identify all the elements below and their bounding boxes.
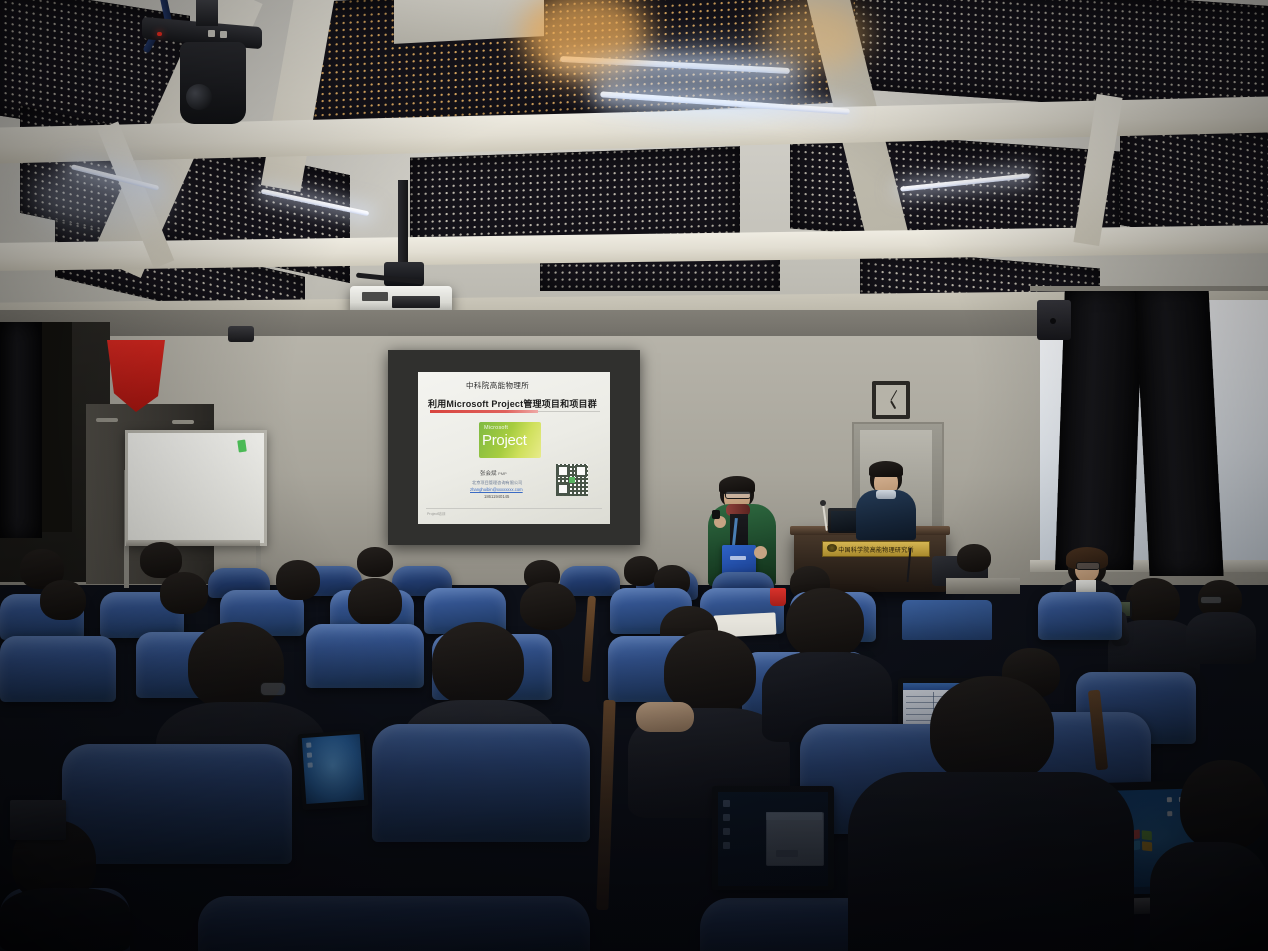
camera-port-1	[208, 30, 215, 37]
slide-title-suffix: 管理项目和项目群	[523, 399, 597, 409]
presenter-folder-logo	[730, 556, 746, 560]
slide-title-prefix: 利用	[428, 399, 446, 409]
camera-port-2	[220, 31, 227, 38]
presenter-glasses	[725, 491, 751, 499]
win7-desktop-icon-17[interactable]	[1167, 811, 1172, 816]
front-table-right	[946, 578, 1020, 594]
presenter-hand-right	[754, 546, 767, 559]
projection-screen: 中科院高能物理所 利用Microsoft Project管理项目和项目群 Mic…	[418, 372, 610, 524]
clock-hour-hand	[890, 400, 896, 409]
laptop-blue-icon-2	[307, 752, 312, 757]
slide-qr-code	[556, 464, 588, 496]
ceiling-light-glow-left	[30, 160, 170, 230]
audience-body-front-left	[0, 888, 130, 951]
presenter-blue-folder	[722, 545, 756, 575]
qr-corner-tr	[575, 465, 587, 477]
audience-head-f2	[432, 622, 524, 706]
ceiling-light-glow-cool	[585, 45, 815, 120]
projector-mount-arm	[398, 180, 408, 272]
seat-row2-2[interactable]	[372, 724, 590, 842]
logo-microsoft-text: Microsoft	[484, 425, 508, 431]
windows-logo-quadrant-tr	[1142, 830, 1152, 840]
audience-hands-f3	[636, 702, 694, 732]
presenter-name-text: 张会斌	[480, 471, 497, 477]
laptop-blue-screen	[302, 734, 364, 804]
audience-head-m4	[348, 578, 402, 626]
whiteboard-marker-tray	[126, 540, 260, 546]
podium-nameplate: 中国科学院高能物理研究所	[822, 541, 930, 557]
podium-emblem	[827, 544, 837, 552]
clock-minute-hand	[890, 390, 897, 401]
curtain-left-panel	[0, 322, 42, 538]
ceiling-mounted-speaker-left	[228, 326, 254, 342]
slide-presenter-name: 张会斌 PMP	[480, 469, 507, 477]
presenter-cert-text: PMP	[498, 471, 507, 476]
camera-status-led	[157, 32, 162, 36]
seat-row3-1[interactable]	[0, 636, 116, 702]
slide-footer-divider	[426, 508, 602, 509]
audience-body-front-center	[848, 772, 1134, 951]
wall-speaker-right-cone	[1050, 318, 1056, 324]
laptop-dialog-icon-4	[723, 842, 730, 849]
host-collar	[876, 490, 896, 499]
audience-head-m3	[276, 560, 320, 600]
aisle-rail-center	[596, 700, 615, 910]
host-hair	[869, 461, 903, 477]
slide-email: zhanghuibin@xxxxxxxx.com	[470, 487, 523, 492]
audience-head-f4	[786, 588, 864, 658]
slide-org-line: 中科院高能物理所	[466, 380, 529, 391]
red-paper-cup[interactable]	[770, 588, 786, 606]
seat-row1-2[interactable]	[198, 896, 590, 951]
audience-bag-left	[10, 800, 66, 840]
slide-title-underline	[430, 410, 538, 413]
phone-user-head	[1126, 578, 1180, 626]
slide-phone: 18611940145	[484, 494, 509, 499]
seat-row4-9[interactable]	[1038, 592, 1122, 640]
audience-glasses-r2	[1200, 596, 1222, 604]
laptop-dialog-icon-2	[723, 814, 730, 821]
door-handle-left[interactable]	[96, 418, 118, 422]
audience-head-b5	[624, 556, 658, 586]
presenter-remote[interactable]	[712, 510, 720, 519]
win7-desktop-icon-15[interactable]	[1167, 797, 1172, 802]
podium-nameplate-text: 中国科学院高能物理研究所	[838, 545, 914, 554]
projector-control-panel	[362, 292, 388, 301]
ptz-camera-head	[180, 42, 246, 124]
lecture-hall-photo: 中科院高能物理所 利用Microsoft Project管理项目和项目群 Mic…	[0, 0, 1268, 951]
laptop-dialog-icon-1	[723, 800, 730, 807]
audience-head-m2	[160, 572, 208, 614]
camera-lens	[186, 84, 212, 110]
audience-glasses-f1	[260, 682, 286, 696]
audience-head-front-center	[930, 676, 1054, 784]
slide-title-brand: Microsoft Project	[446, 399, 523, 409]
audience-head-m5	[520, 582, 576, 630]
audience-head-m1	[40, 580, 86, 620]
laptop-dialog-screen	[718, 792, 828, 886]
camera-mount-post	[196, 0, 218, 26]
logo-project-text: Project	[482, 432, 527, 449]
laptop-dialog-titlebar	[766, 812, 822, 820]
seat-row3-3[interactable]	[306, 624, 424, 688]
audience-glasses-woman-right	[1076, 562, 1100, 570]
laptop-blue-icon-1	[306, 742, 311, 747]
slide-footer-text: Project培训	[427, 512, 445, 517]
laptop-dialog-button[interactable]	[776, 850, 798, 857]
audience-head-f1	[188, 622, 284, 710]
slide-company-line: 北京项目管理咨询有限公司	[472, 480, 522, 486]
laptop-blue-icon-3	[308, 762, 313, 767]
audience-head-b3	[357, 547, 393, 577]
whiteboard-sticky-note[interactable]	[237, 440, 247, 453]
laptop-dialog-window[interactable]	[766, 812, 824, 866]
curtain-rail-right	[1030, 286, 1268, 291]
projector-io-panel	[392, 296, 440, 308]
laptop-dialog-icon-3	[723, 828, 730, 835]
microsoft-project-logo: Microsoft Project	[479, 422, 541, 458]
seat-row2-1[interactable]	[62, 744, 292, 864]
audience-body-front-right	[1150, 842, 1268, 951]
audience-body-r2	[1186, 612, 1256, 664]
audience-head-b8	[957, 544, 991, 572]
podium-side-chair	[902, 600, 992, 640]
curtain-right-panel-2	[1134, 286, 1223, 576]
podium-microphone-head	[820, 500, 826, 506]
qr-corner-bl	[557, 483, 569, 495]
qr-corner-tl	[557, 465, 569, 477]
aisle-rail-left	[582, 596, 596, 682]
slide-title-divider	[538, 411, 600, 412]
door-handle-right[interactable]	[172, 420, 194, 424]
wall-clock-face	[876, 385, 906, 415]
windows-logo-quadrant-br	[1142, 841, 1152, 851]
qr-center-marker	[569, 477, 575, 483]
audience-head-front-right	[1180, 760, 1268, 850]
